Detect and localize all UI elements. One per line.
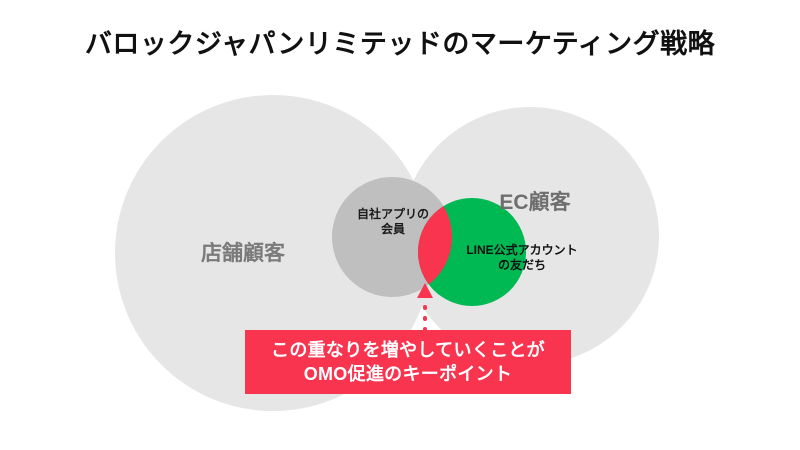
slide-canvas: バロックジャパンリミテッドのマーケティング戦略 <box>0 0 800 450</box>
callout-line-1: この重なりを増やしていくことが <box>271 338 545 362</box>
callout-line-2: OMO促進のキーポイント <box>304 362 513 386</box>
callout-banner: この重なりを増やしていくことが OMO促進のキーポイント <box>245 330 571 394</box>
